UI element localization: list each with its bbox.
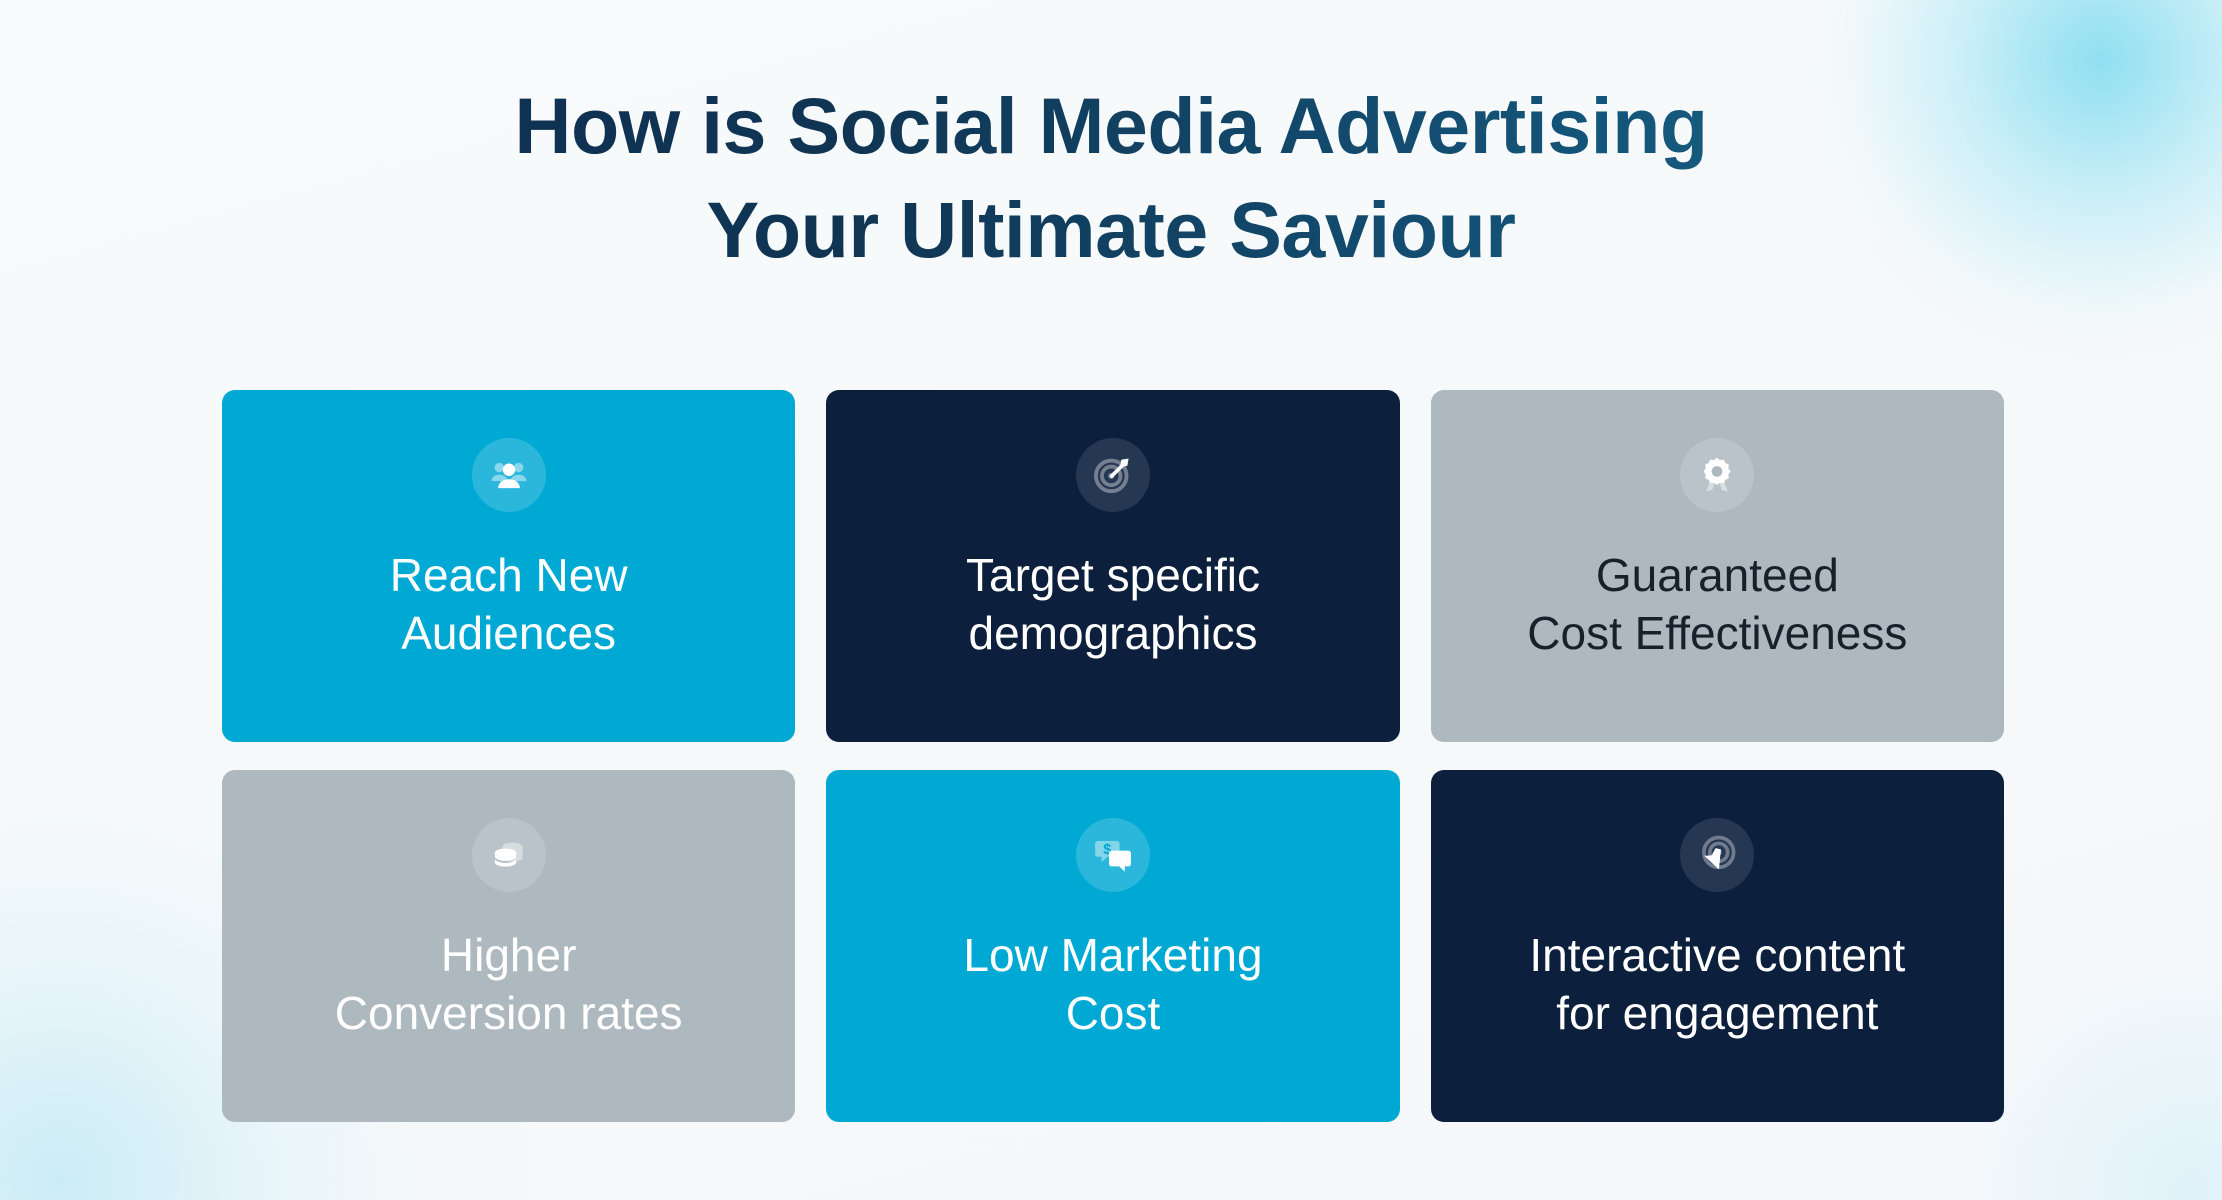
benefit-card-label: Reach New Audiences <box>366 546 652 663</box>
icon-badge <box>472 438 546 512</box>
benefit-card-grid: Reach New Audiences Target specific demo… <box>222 390 2004 1122</box>
benefit-card-reach-new-audiences[interactable]: Reach New Audiences <box>222 390 795 742</box>
benefit-card-interactive-content-for-engagement[interactable]: Interactive content for engagement <box>1431 770 2004 1122</box>
benefit-card-label: Target specific demographics <box>942 546 1284 663</box>
icon-badge <box>1680 438 1754 512</box>
dollar-chat-bubbles-icon: $ <box>1092 834 1134 876</box>
benefit-card-label: Interactive content for engagement <box>1505 926 1929 1043</box>
icon-badge: $ <box>1076 818 1150 892</box>
benefit-card-label: Low Marketing Cost <box>939 926 1286 1043</box>
benefit-card-higher-conversion-rates[interactable]: Higher Conversion rates <box>222 770 795 1122</box>
icon-badge <box>1076 438 1150 512</box>
benefit-card-label: Higher Conversion rates <box>311 926 707 1043</box>
benefit-card-label: Guaranteed Cost Effectiveness <box>1503 546 1931 663</box>
title-line-2: Your Ultimate Saviour <box>0 182 2222 278</box>
target-dart-icon <box>1092 454 1134 496</box>
benefit-card-low-marketing-cost[interactable]: $ Low Marketing Cost <box>826 770 1399 1122</box>
cursor-click-target-icon <box>1696 834 1738 876</box>
icon-badge <box>472 818 546 892</box>
infographic-page: How is Social Media Advertising Your Ult… <box>0 0 2222 1200</box>
icon-badge <box>1680 818 1754 892</box>
group-people-icon <box>488 454 530 496</box>
benefit-card-target-specific-demographics[interactable]: Target specific demographics <box>826 390 1399 742</box>
title-line-1: How is Social Media Advertising <box>0 78 2222 174</box>
benefit-card-guaranteed-cost-effectiveness[interactable]: Guaranteed Cost Effectiveness <box>1431 390 2004 742</box>
stacked-coins-icon <box>488 834 530 876</box>
page-title: How is Social Media Advertising Your Ult… <box>0 78 2222 279</box>
award-ribbon-icon <box>1697 455 1737 495</box>
